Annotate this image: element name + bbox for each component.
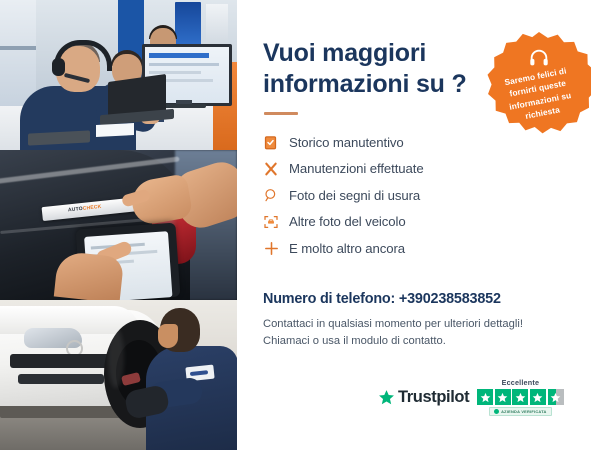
title-underline-rule	[264, 112, 298, 115]
page-title: Vuoi maggiori informazioni su ?	[263, 38, 478, 99]
promo-card: AUTOCHECK	[0, 0, 600, 450]
screen-header-bar	[149, 53, 209, 58]
car-grille-upper	[10, 354, 114, 368]
feature-label: Altre foto del veicolo	[289, 214, 406, 229]
photo-wheel-service	[0, 300, 237, 450]
feature-item-manutenzioni-effettuate: Manutenzioni effettuate	[263, 156, 600, 183]
feature-item-foto-segni-usura: Foto dei segni di usura	[263, 182, 600, 209]
verified-check-icon	[494, 409, 499, 414]
desk-papers	[96, 123, 134, 137]
technician-hand-lower	[54, 251, 124, 300]
star-filled	[512, 389, 528, 405]
wall-poster-secondary	[206, 4, 228, 44]
car-grille-lower	[18, 374, 104, 384]
promo-badge: Saremo felici di fornirti queste informa…	[487, 32, 591, 136]
rating-stars	[477, 389, 563, 405]
contact-line-1: Contattaci in qualsiasi momento per ulte…	[263, 316, 563, 333]
strip-label-left: AUTO	[68, 206, 83, 214]
feature-label: Storico manutentivo	[289, 135, 404, 150]
car-scan-frame-icon	[263, 214, 289, 230]
plus-icon	[263, 240, 289, 257]
window-frame-bar	[0, 46, 36, 50]
monitor-base	[164, 104, 206, 108]
photo-column: AUTOCHECK	[0, 0, 237, 450]
strip-label-right: CHECK	[83, 204, 102, 212]
feature-list: Storico manutentivo Manutenzioni effettu…	[263, 129, 600, 262]
feature-item-molto-altro: E molto altro ancora	[263, 235, 600, 262]
trustpilot-wordmark: Trustpilot	[398, 388, 469, 407]
trustpilot-rating: Eccellente	[477, 378, 563, 416]
screen-row	[149, 71, 201, 74]
star-half	[548, 389, 564, 405]
strip-brand-label: AUTOCHECK	[68, 204, 102, 213]
photo-vehicle-inspection: AUTOCHECK	[0, 150, 237, 300]
mechanic-face	[158, 324, 178, 348]
trustpilot-star-icon	[378, 389, 395, 406]
trustpilot-widget[interactable]: Trustpilot Eccellente	[378, 378, 564, 416]
contact-instructions: Contattaci in qualsiasi momento per ulte…	[263, 316, 563, 350]
trustpilot-logo: Trustpilot	[378, 388, 469, 407]
wall-poster	[175, 2, 201, 46]
star-filled	[477, 389, 493, 405]
photo-call-center	[0, 0, 237, 150]
feature-label: Manutenzioni effettuate	[289, 161, 424, 176]
magnifier-icon	[263, 187, 289, 203]
verified-company-badge: AZIENDA VERIFICATA	[489, 407, 552, 416]
headset-earcup	[52, 58, 65, 76]
verified-label: AZIENDA VERIFICATA	[501, 409, 547, 414]
headset-icon	[528, 47, 550, 69]
screen-row	[149, 63, 219, 66]
rating-label: Eccellente	[502, 378, 540, 387]
contact-line-2: Chiamaci o usa il modulo di contatto.	[263, 333, 563, 350]
star-filled	[495, 389, 511, 405]
crossed-wrenches-icon	[263, 161, 289, 177]
content-panel: Vuoi maggiori informazioni su ? Saremo f…	[237, 0, 600, 450]
star-filled	[530, 389, 546, 405]
feature-label: Foto dei segni di usura	[289, 188, 420, 203]
feature-label: E molto altro ancora	[289, 241, 405, 256]
clipboard-check-icon	[263, 135, 289, 150]
feature-item-altre-foto-veicolo: Altre foto del veicolo	[263, 209, 600, 236]
phone-number-label[interactable]: Numero di telefono: +390238583852	[263, 291, 600, 307]
